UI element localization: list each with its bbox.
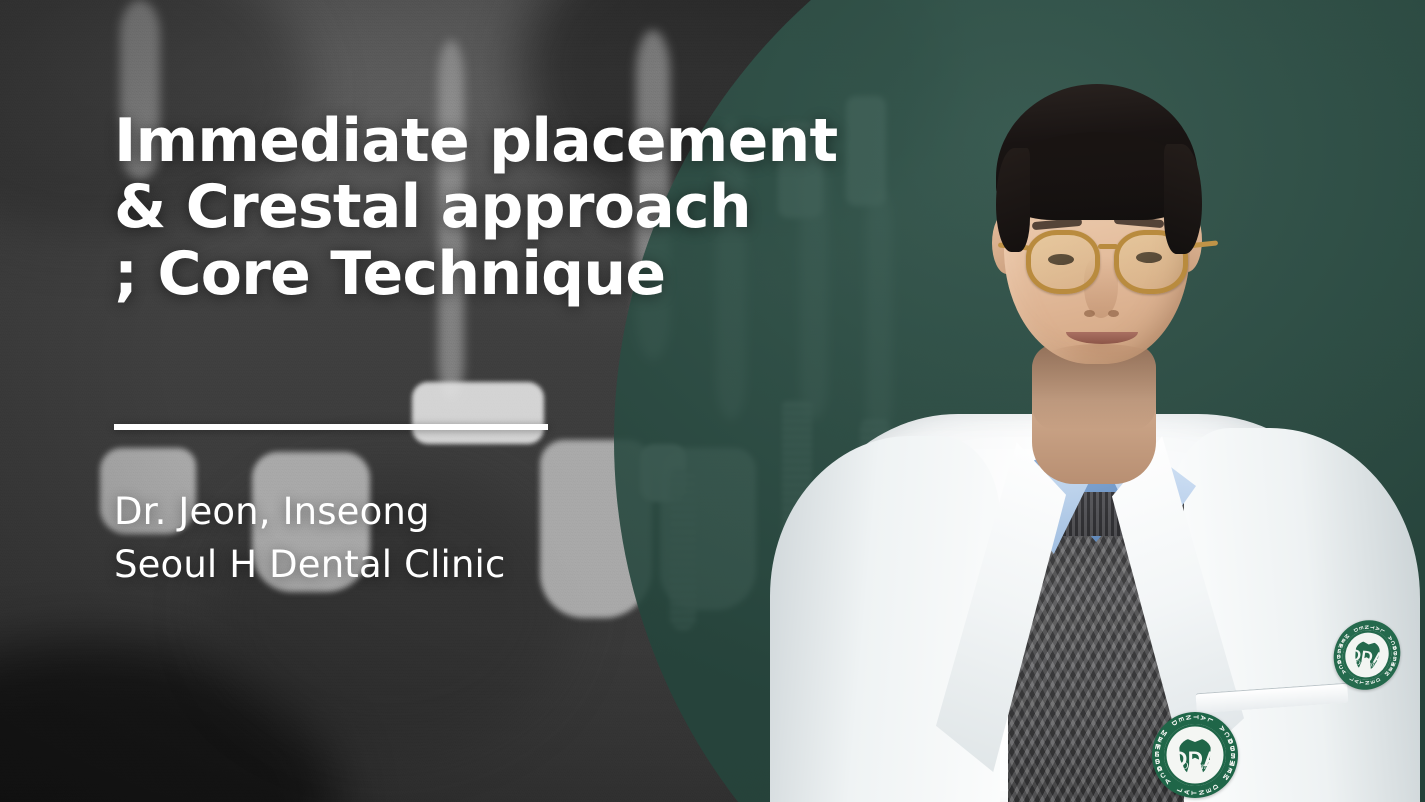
- speaker-affiliation: Seoul H Dental Clinic: [114, 539, 505, 592]
- nostril-left: [1084, 310, 1095, 317]
- title-line-2: & Crestal approach: [114, 174, 994, 240]
- title-line-1: Immediate placement: [114, 108, 994, 174]
- chin-shadow: [1046, 344, 1154, 370]
- oda-badge-chest: OSSTEM DENTAL ACADEMYOSSTEM DENTAL ACADE…: [1152, 712, 1238, 798]
- badge-wordmark: Osstem: [1164, 761, 1226, 771]
- title-divider-rule: [114, 424, 548, 430]
- speaker-name: Dr. Jeon, Inseong: [114, 486, 505, 539]
- page-title: Immediate placement & Crestal approach ;…: [114, 108, 994, 307]
- glasses-lens-left: [1026, 230, 1100, 294]
- badge-inner-disc: ODA Osstem: [1164, 724, 1226, 786]
- glasses-bridge: [1098, 244, 1118, 249]
- title-line-3: ; Core Technique: [114, 241, 994, 307]
- speaker-credits: Dr. Jeon, Inseong Seoul H Dental Clinic: [114, 486, 505, 591]
- oda-badge-sleeve: OSSTEM DENTAL ACADEMYOSSTEM DENTAL ACADE…: [1329, 617, 1406, 693]
- lecture-title-slide: OSSTEM DENTAL ACADEMYOSSTEM DENTAL ACADE…: [0, 0, 1425, 802]
- nostril-right: [1108, 310, 1119, 317]
- hair-sideburn-left: [996, 148, 1030, 252]
